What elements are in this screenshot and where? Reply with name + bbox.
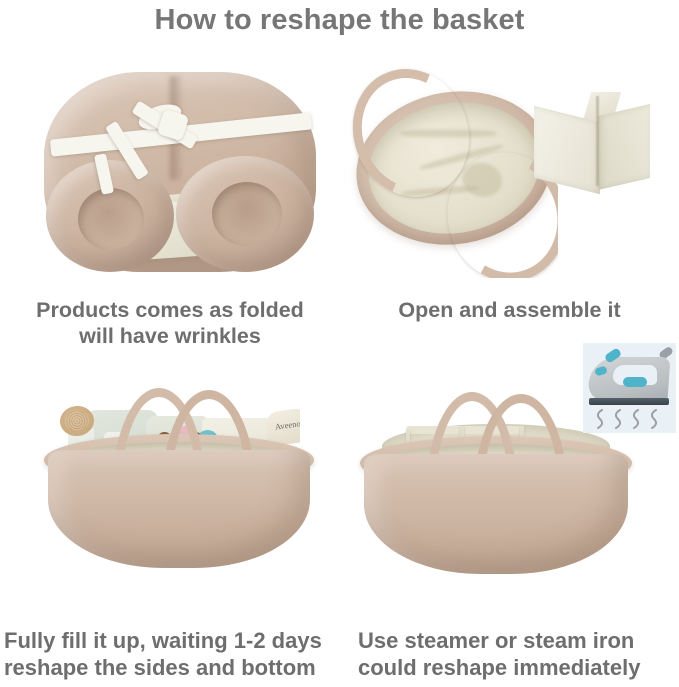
basket-body [48,450,310,568]
aveeno-label: Aveeno [268,417,300,432]
steam-wisp-icon [631,409,641,429]
divider-panel-left [534,106,600,194]
caption-step-3: Fully fill it up, waiting 1-2 days resha… [4,628,356,682]
steam-wisp-icon [649,409,659,429]
page-title: How to reshape the basket [0,4,679,37]
infographic-page: How to reshape the basket Products comes… [0,0,679,687]
image-filled-basket: Aveeno [34,388,334,588]
divider-panel-right [598,104,650,190]
rolled-basket-illustration [44,72,316,278]
basket-body [364,454,628,574]
image-open-basket [348,66,558,278]
image-divider-insert [528,88,656,200]
caption-step-2: Open and assemble it [340,297,679,323]
image-folded-basket [38,58,322,290]
roll-lobe-right-hole [212,182,282,246]
divider-spine [596,96,599,186]
steam-iron-icon [583,343,676,433]
steam-wisp-icon [595,409,605,429]
caption-step-1: Products comes as folded will have wrink… [0,297,340,349]
iron-soleplate [589,398,669,405]
iron-knob [623,377,647,387]
caption-step-4: Use steamer or steam iron could reshape … [358,628,678,682]
roll-lobe-left-hole [78,188,144,250]
steam-wisp-icon [613,409,623,429]
